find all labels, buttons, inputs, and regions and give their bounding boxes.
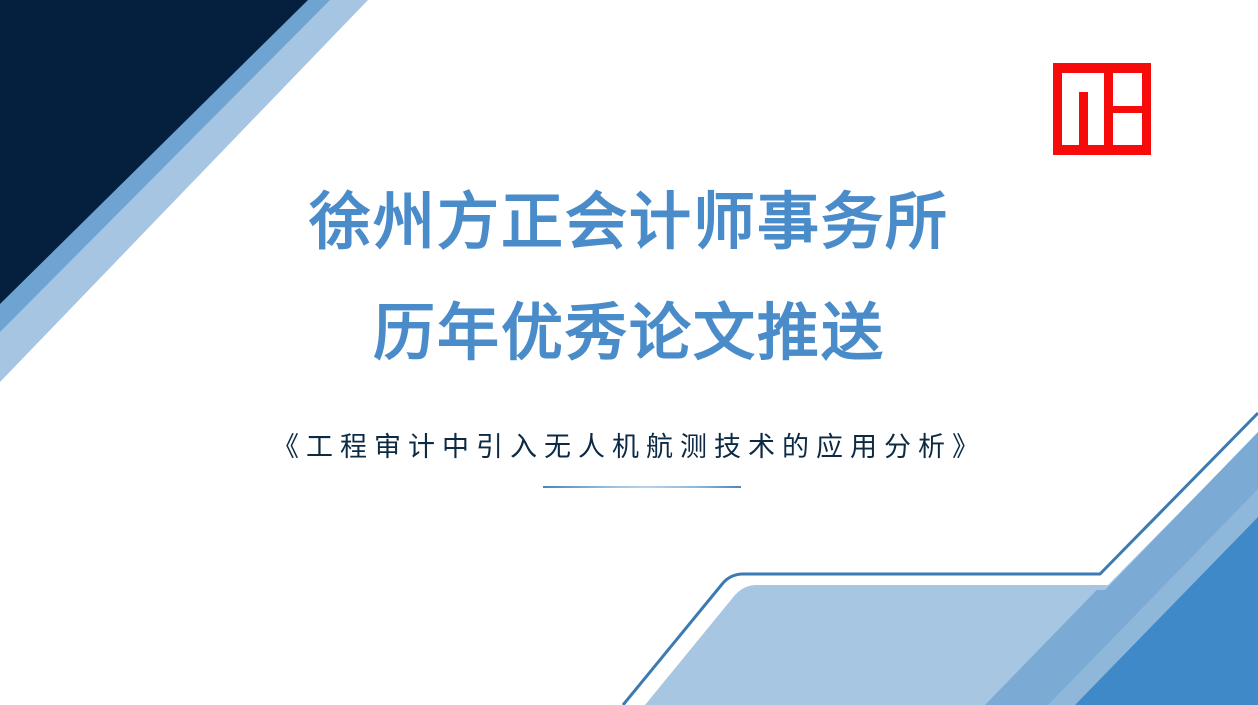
- fangzheng-logo-icon: [1053, 63, 1151, 155]
- logo-left-stem: [1079, 92, 1088, 145]
- ribbon-stripe-mid: [985, 424, 1258, 705]
- ribbon-body-light: [645, 433, 1258, 705]
- ribbon-stripe-dark: [1075, 517, 1258, 705]
- presentation-slide: 徐州方正会计师事务所 历年优秀论文推送 《工程审计中引入无人机航测技术的应用分析…: [0, 0, 1258, 705]
- page-subtitle: 《工程审计中引入无人机航测技术的应用分析》: [0, 425, 1258, 464]
- logo-right-counter-bottom: [1113, 113, 1142, 145]
- diagonal-band-medium: [0, 0, 330, 332]
- title-divider-rule: [543, 486, 741, 488]
- page-title-line-1: 徐州方正会计师事务所: [0, 187, 1258, 259]
- ribbon-stripe-light-accent: [1048, 489, 1258, 705]
- page-title-line-2: 历年优秀论文推送: [0, 298, 1258, 370]
- logo-right-counter-top: [1113, 73, 1142, 106]
- logo-left-bridge: [1062, 73, 1104, 93]
